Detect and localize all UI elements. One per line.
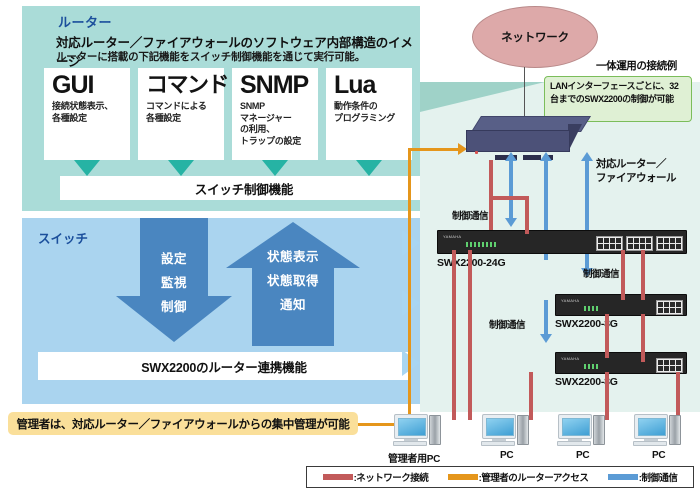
device-brand-mark: YAMAHA <box>443 234 461 239</box>
down-arrow-icon <box>356 160 382 176</box>
switch-control-function-label: スイッチ制御機能 <box>195 179 293 198</box>
monitor-icon <box>482 414 516 439</box>
feature-title: SNMP <box>240 70 312 100</box>
status-leds <box>584 306 598 311</box>
port-block <box>656 300 683 315</box>
keyboard-icon <box>393 441 427 446</box>
lan-interface-callout-text: LANインターフェースごとに、32台までのSWX2200の制御が可能 <box>550 80 686 105</box>
tower-icon <box>593 415 605 445</box>
legend: :ネットワーク接続 :管理者のルーターアクセス :制御通信 <box>306 466 694 488</box>
tower-icon <box>669 415 681 445</box>
feature-desc: コマンドによる 各種設定 <box>146 101 218 124</box>
legend-swatch-control <box>608 474 638 480</box>
admin-banner-label: 管理者は、対応ルーター／ファイアウォールからの集中管理が可能 <box>17 416 350 432</box>
cable-network <box>452 250 456 420</box>
switch-device-swx2200-8g-2: YAMAHA <box>555 352 687 374</box>
arrow-up-icon <box>505 152 517 161</box>
cable-network <box>605 314 609 358</box>
down-arrow-icon <box>262 160 288 176</box>
status-leds <box>584 364 598 369</box>
integrated-operation-example-label: 一体運用の接続例 <box>596 58 677 73</box>
arrow-down-icon <box>540 334 552 343</box>
keyboard-icon <box>481 441 515 446</box>
pc-label-3: PC <box>652 450 665 461</box>
down-arrow-icon <box>74 160 100 176</box>
cable-admin-access <box>408 148 411 426</box>
monitor-icon <box>634 414 668 439</box>
legend-item-admin-access: :管理者のルーターアクセス <box>448 470 589 484</box>
router-panel: ルーター 対応ルーター／ファイアウォールのソフトウェア内部構造のイメージ ルータ… <box>22 6 420 211</box>
switch-control-function-bar: スイッチ制御機能 <box>60 176 428 200</box>
monitor-icon <box>558 414 592 439</box>
up-arrow-label-1: 状態表示 <box>224 246 362 265</box>
feature-card-snmp: SNMP SNMP マネージャー の利用、 トラップの設定 <box>232 68 318 160</box>
arrow-up-icon <box>540 152 552 161</box>
switch-panel-heading: スイッチ <box>38 228 88 247</box>
cable-control <box>509 160 513 222</box>
cable-network <box>489 160 493 230</box>
down-arrow-label-3: 制御 <box>114 296 234 315</box>
port-block <box>656 358 683 373</box>
down-arrow-label-2: 監視 <box>114 272 234 291</box>
link-arrow-right-icon <box>402 350 420 376</box>
control-comm-label-3: 制御通信 <box>489 317 525 331</box>
status-leds <box>466 242 496 247</box>
control-comm-label-1: 制御通信 <box>452 208 488 222</box>
tower-icon <box>517 415 529 445</box>
link-arrow-right-icon <box>402 290 420 316</box>
pc-3 <box>632 412 688 448</box>
cable-network <box>641 314 645 362</box>
cable-network <box>489 196 529 200</box>
feature-title: GUI <box>52 70 124 100</box>
down-arrow-icon <box>168 160 194 176</box>
cable-network <box>641 250 645 300</box>
legend-swatch-admin-access <box>448 474 478 480</box>
feature-title: コマンド <box>146 70 218 100</box>
feature-desc: 動作条件の プログラミング <box>334 101 406 124</box>
port-block <box>596 236 683 251</box>
device-front-face <box>466 130 570 152</box>
control-comm-label-2: 制御通信 <box>583 266 619 280</box>
pc-label-admin: 管理者用PC <box>388 450 440 465</box>
feature-desc: SNMP マネージャー の利用、 トラップの設定 <box>240 101 312 147</box>
network-cloud-label: ネットワーク <box>501 29 569 45</box>
device-brand-mark: YAMAHA <box>561 356 579 361</box>
swx2200-link-function-bar: SWX2200のルーター連携機能 <box>38 352 410 380</box>
link-arrow-right-icon <box>402 230 420 256</box>
keyboard-icon <box>557 441 591 446</box>
cable-control <box>544 300 548 336</box>
pc-1 <box>480 412 536 448</box>
switch-panel: スイッチ 設定 監視 制御 状態表示 状態取得 通知 SWX2200のルーター連… <box>22 218 420 404</box>
feature-card-command: コマンド コマンドによる 各種設定 <box>138 68 224 160</box>
admin-central-management-banner: 管理者は、対応ルーター／ファイアウォールからの集中管理が可能 <box>8 412 358 435</box>
decorative-triangle <box>420 82 545 112</box>
cloud-to-router-line <box>524 67 525 117</box>
down-arrow-label-1: 設定 <box>114 248 234 267</box>
diagram-canvas: ルーター 対応ルーター／ファイアウォールのソフトウェア内部構造のイメージ ルータ… <box>0 0 700 492</box>
cable-network <box>621 250 625 300</box>
device-side-face <box>568 124 582 152</box>
swx2200-link-function-label: SWX2200のルーター連携機能 <box>141 357 307 376</box>
keyboard-icon <box>633 441 667 446</box>
router-panel-heading: ルーター <box>58 12 112 31</box>
cable-network <box>525 196 529 234</box>
router-firewall-device <box>466 116 586 154</box>
device-brand-mark: YAMAHA <box>561 298 579 303</box>
pc-label-2: PC <box>576 450 589 461</box>
pc-label-1: PC <box>500 450 513 461</box>
arrow-down-icon <box>505 218 517 227</box>
router-firewall-label: 対応ルーター／ ファイアウォール <box>596 157 676 185</box>
monitor-icon <box>394 414 428 439</box>
feature-card-lua: Lua 動作条件の プログラミング <box>326 68 412 160</box>
switch-device-swx2200-24g: YAMAHA <box>437 230 687 254</box>
arrow-up-icon <box>581 152 593 161</box>
network-cloud: ネットワーク <box>472 6 598 68</box>
pc-admin <box>392 412 448 448</box>
legend-item-control: :制御通信 <box>608 470 678 484</box>
cable-admin-access <box>408 148 460 151</box>
tower-icon <box>429 415 441 445</box>
up-arrow-label-3: 通知 <box>224 294 362 313</box>
feature-card-gui: GUI 接続状態表示、 各種設定 <box>44 68 130 160</box>
legend-label-admin-access: :管理者のルーターアクセス <box>479 470 589 484</box>
cable-network <box>468 250 472 420</box>
feature-title: Lua <box>334 70 406 100</box>
router-panel-note: ルーターに搭載の下記機能をスイッチ制御機能を通じて実行可能。 <box>56 49 365 64</box>
legend-item-network: :ネットワーク接続 <box>323 470 429 484</box>
legend-label-control: :制御通信 <box>639 470 678 484</box>
legend-label-network: :ネットワーク接続 <box>354 470 429 484</box>
pc-2 <box>556 412 612 448</box>
legend-swatch-network <box>323 474 353 480</box>
feature-desc: 接続状態表示、 各種設定 <box>52 101 124 124</box>
up-arrow-label-2: 状態取得 <box>224 270 362 289</box>
